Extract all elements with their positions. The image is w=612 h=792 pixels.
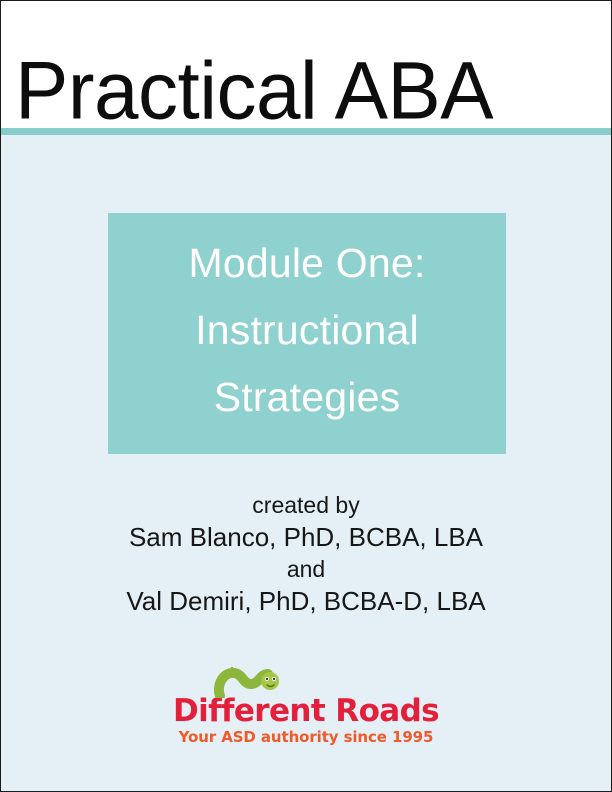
module-title-line-2: Instructional <box>195 297 419 364</box>
caterpillar-icon <box>212 664 284 698</box>
page-title: Practical ABA <box>15 50 493 132</box>
module-title-line-3: Strategies <box>214 364 401 431</box>
credits-block: created by Sam Blanco, PhD, BCBA, LBA an… <box>1 490 611 618</box>
publisher-logo: Different Roads Your ASD authority since… <box>1 695 611 746</box>
authors-conjunction: and <box>1 554 611 585</box>
logo-tagline: Your ASD authority since 1995 <box>173 728 439 746</box>
author-name-secondary: Val Demiri, PhD, BCBA-D, LBA <box>1 585 611 618</box>
header-divider <box>1 128 611 135</box>
cover-page: Practical ABA Module One: Instructional … <box>0 0 612 792</box>
created-by-label: created by <box>1 490 611 521</box>
logo-inner: Different Roads Your ASD authority since… <box>173 695 439 746</box>
module-title-box: Module One: Instructional Strategies <box>108 213 506 454</box>
module-title-line-1: Module One: <box>189 230 426 297</box>
logo-wordmark: Different Roads <box>173 695 439 728</box>
author-name-primary: Sam Blanco, PhD, BCBA, LBA <box>1 521 611 554</box>
